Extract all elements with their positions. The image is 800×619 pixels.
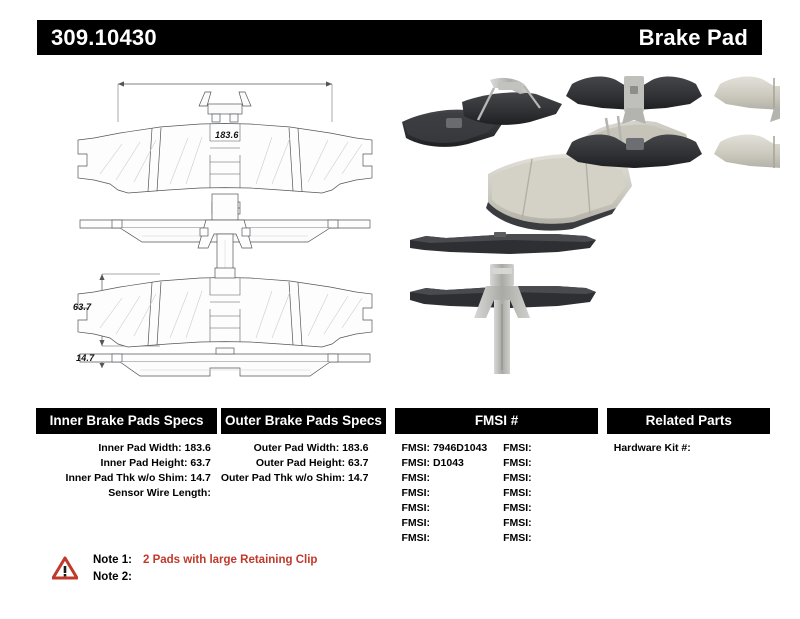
fmsi-line: FMSI: xyxy=(395,531,497,546)
spec-line: Inner Pad Height: 63.7 xyxy=(36,456,217,471)
spec-sheet-page: 309.10430 Brake Pad xyxy=(0,0,800,619)
photo-pad-grid-1 xyxy=(566,76,702,124)
spec-line: Inner Pad Width: 183.6 xyxy=(36,441,217,456)
spec-line: Outer Pad Height: 63.7 xyxy=(221,456,387,471)
width-dimension-line xyxy=(118,81,332,122)
fmsi-line: FMSI: xyxy=(497,531,599,546)
note-2-row: Note 2: xyxy=(93,569,317,586)
dimension-label-height: 63.7 xyxy=(73,302,91,312)
photo-edge-pad-2 xyxy=(410,264,596,374)
product-type: Brake Pad xyxy=(639,27,748,49)
fmsi-line: FMSI: xyxy=(497,471,599,486)
photo-edge-pads-group xyxy=(410,232,596,374)
fmsi-line: FMSI: xyxy=(395,471,497,486)
fmsi-line: FMSI: D1043 xyxy=(395,456,497,471)
dimension-label-width: 183.6 xyxy=(215,130,239,140)
note-2-label: Note 2: xyxy=(93,569,143,586)
fmsi-subcolumn-right: FMSI: FMSI: FMSI: FMSI: FMSI: FMSI: FMSI… xyxy=(497,441,599,546)
fmsi-line: FMSI: xyxy=(497,456,599,471)
header-outer-specs: Outer Brake Pads Specs xyxy=(221,408,386,434)
fmsi-subcolumn-left: FMSI: 7946D1043 FMSI: D1043 FMSI: FMSI: … xyxy=(395,441,497,546)
fmsi-line: FMSI: 7946D1043 xyxy=(395,441,497,456)
header-related-parts: Related Parts xyxy=(607,408,770,434)
related-parts-column: Hardware Kit #: xyxy=(608,441,770,546)
fmsi-line: FMSI: xyxy=(497,501,599,516)
photo-edge-pad-1 xyxy=(410,232,596,254)
fmsi-column: FMSI: 7946D1043 FMSI: D1043 FMSI: FMSI: … xyxy=(395,441,598,546)
related-part-line: Hardware Kit #: xyxy=(608,441,770,456)
spec-line: Sensor Wire Length: xyxy=(36,486,217,501)
spec-line: Inner Pad Thk w/o Shim: 14.7 xyxy=(36,471,217,486)
brake-pad-drawings-svg xyxy=(60,62,390,382)
fmsi-line: FMSI: xyxy=(497,486,599,501)
fmsi-line: FMSI: xyxy=(497,441,599,456)
fmsi-line: FMSI: xyxy=(395,516,497,531)
fmsi-line: FMSI: xyxy=(395,501,497,516)
outer-specs-column: Outer Pad Width: 183.6 Outer Pad Height:… xyxy=(221,441,387,546)
pad-face-bottom xyxy=(78,268,372,347)
photo-pad-grid-3 xyxy=(566,135,702,168)
fmsi-line: FMSI: xyxy=(497,516,599,531)
header-fmsi: FMSI # xyxy=(395,408,599,434)
warning-triangle-icon xyxy=(52,556,78,580)
note-1-value: 2 Pads with large Retaining Clip xyxy=(143,552,317,569)
table-header-row: Inner Brake Pads Specs Outer Brake Pads … xyxy=(36,408,770,434)
photo-pad-grid-group xyxy=(566,76,780,168)
technical-drawing-panel: 183.6 63.7 14.7 xyxy=(60,62,390,382)
note-1-label: Note 1: xyxy=(93,552,143,569)
inner-specs-column: Inner Pad Width: 183.6 Inner Pad Height:… xyxy=(36,441,217,546)
product-photo-panel xyxy=(390,62,780,382)
header-bar: 309.10430 Brake Pad xyxy=(37,20,762,55)
pad-edge-view-bottom xyxy=(80,348,370,376)
spec-line: Outer Pad Width: 183.6 xyxy=(221,441,387,456)
specifications-table: Inner Brake Pads Specs Outer Brake Pads … xyxy=(36,408,770,546)
spec-line: Outer Pad Thk w/o Shim: 14.7 xyxy=(221,471,387,486)
dimension-label-thickness: 14.7 xyxy=(76,353,94,363)
note-1-row: Note 1: 2 Pads with large Retaining Clip xyxy=(93,552,317,569)
part-number: 309.10430 xyxy=(51,27,157,49)
notes-text-block: Note 1: 2 Pads with large Retaining Clip… xyxy=(93,552,317,586)
retaining-clip-top xyxy=(199,92,251,122)
fmsi-line: FMSI: xyxy=(395,486,497,501)
header-inner-specs: Inner Brake Pads Specs xyxy=(36,408,217,434)
photo-pad-grid-2 xyxy=(714,77,780,122)
table-body-row: Inner Pad Width: 183.6 Inner Pad Height:… xyxy=(36,434,770,546)
product-photos-svg xyxy=(390,62,780,382)
notes-section: Note 1: 2 Pads with large Retaining Clip… xyxy=(52,552,317,586)
photo-pad-grid-4 xyxy=(714,135,780,168)
photo-pad-angled-2 xyxy=(462,78,562,125)
